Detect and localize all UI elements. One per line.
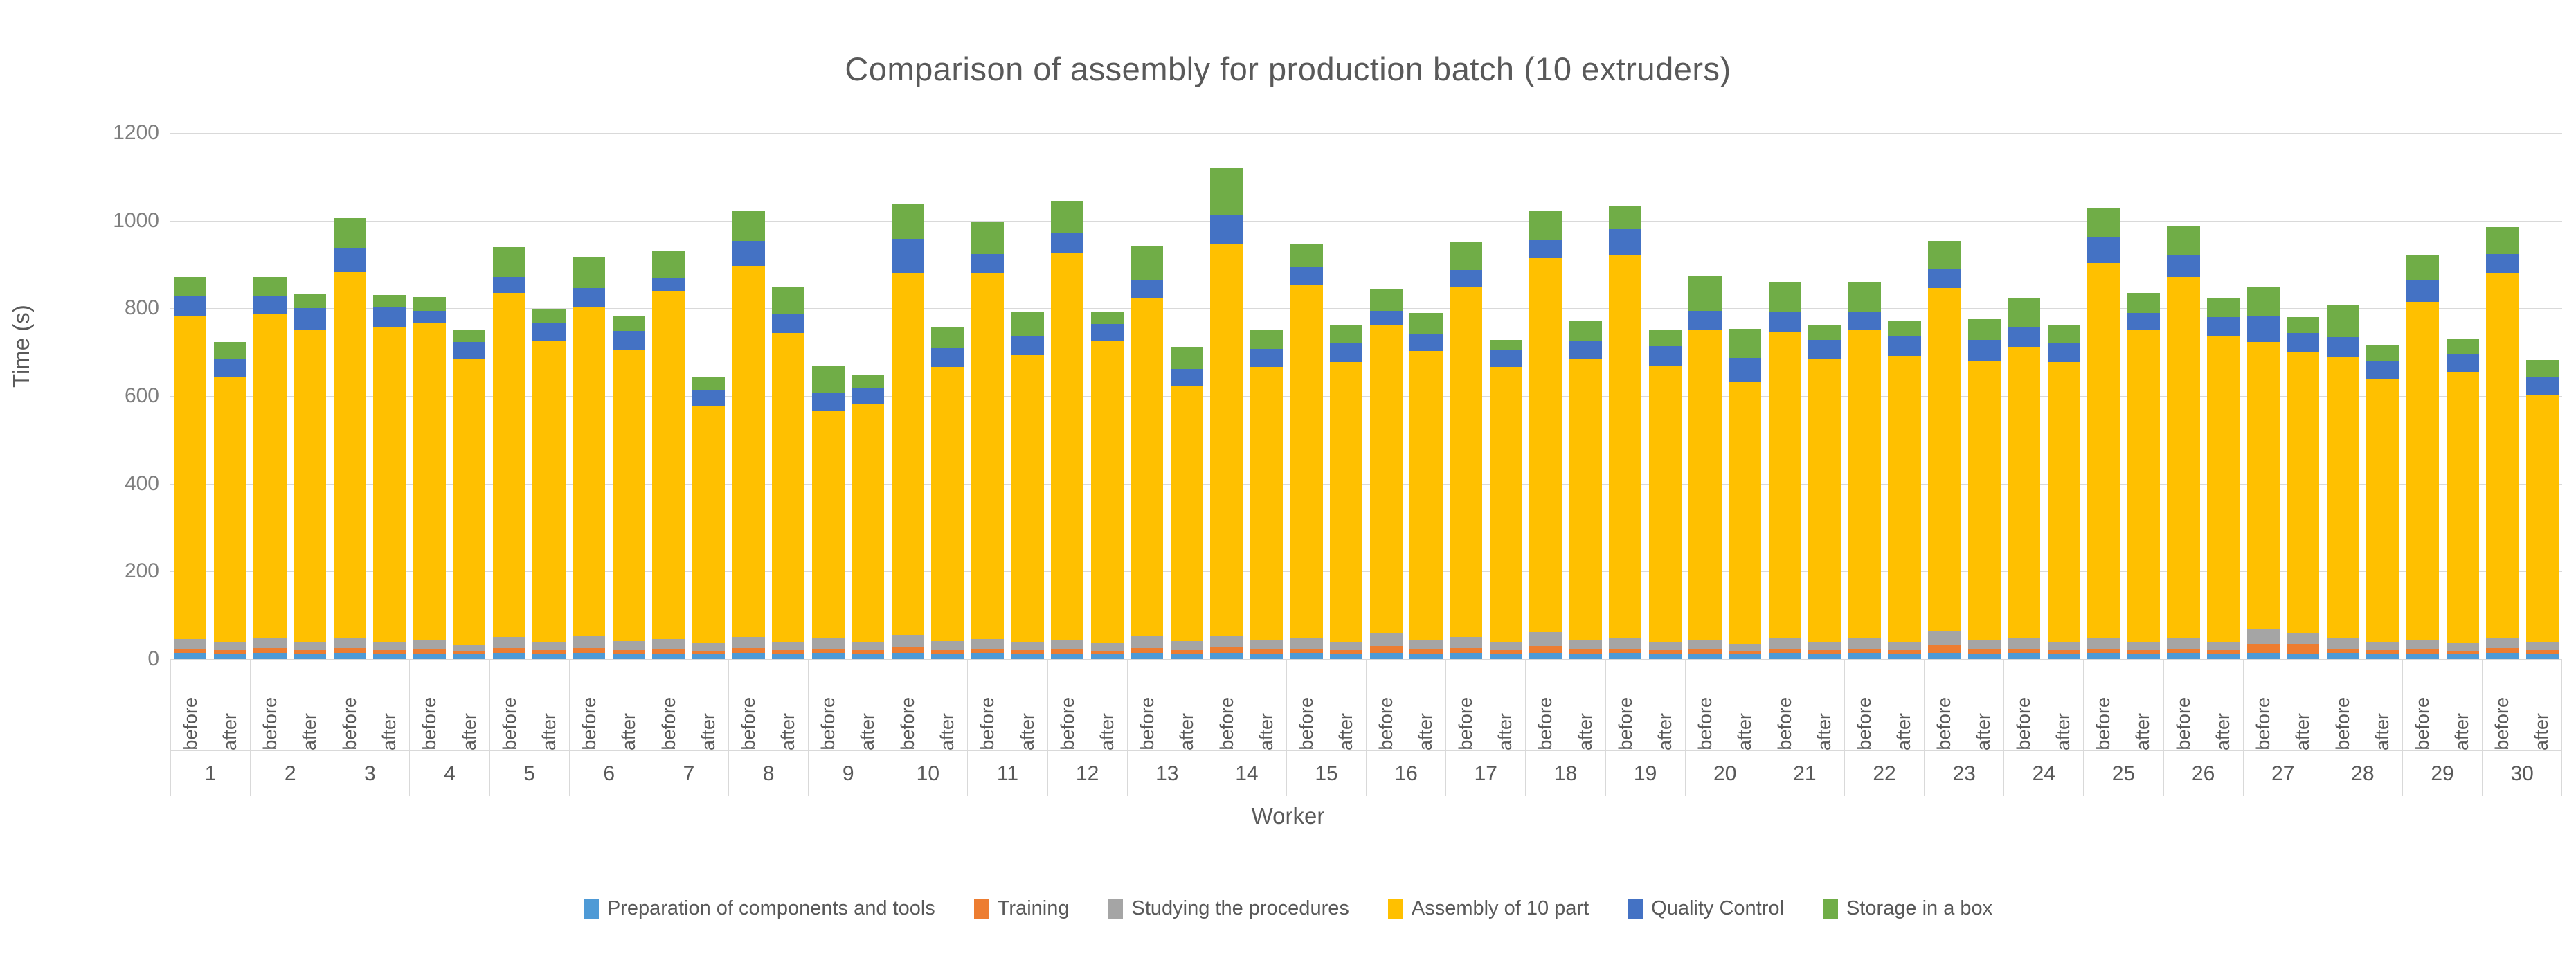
bar-segment[interactable]: [2447, 354, 2479, 373]
bar-segment[interactable]: [1769, 312, 1801, 332]
bar-segment[interactable]: [2247, 316, 2280, 342]
bar-segment[interactable]: [294, 294, 326, 309]
bar-segment[interactable]: [493, 648, 525, 653]
bar-segment[interactable]: [413, 311, 446, 323]
bar-segment[interactable]: [2087, 208, 2120, 237]
bar-segment[interactable]: [1370, 311, 1403, 325]
bar-segment[interactable]: [2366, 361, 2399, 379]
bar-segment[interactable]: [453, 654, 485, 659]
bar-segment[interactable]: [1370, 653, 1403, 659]
bar-segment[interactable]: [1808, 325, 1841, 340]
bar-segment[interactable]: [334, 638, 366, 648]
bar-segment[interactable]: [931, 654, 964, 659]
bar-segment[interactable]: [2327, 653, 2359, 659]
bar-before[interactable]: [573, 257, 605, 659]
bar-before[interactable]: [1051, 201, 1083, 659]
bar-segment[interactable]: [812, 411, 845, 639]
bar-after[interactable]: [2366, 345, 2399, 659]
bar-segment[interactable]: [1330, 343, 1362, 362]
bar-before[interactable]: [253, 277, 286, 659]
bar-segment[interactable]: [931, 348, 964, 367]
bar-segment[interactable]: [1609, 206, 1641, 229]
bar-segment[interactable]: [1250, 349, 1283, 366]
bar-segment[interactable]: [971, 653, 1004, 659]
bar-segment[interactable]: [493, 637, 525, 648]
bar-segment[interactable]: [573, 653, 605, 659]
bar-segment[interactable]: [453, 330, 485, 341]
bar-segment[interactable]: [1051, 233, 1083, 253]
bar-segment[interactable]: [1609, 638, 1641, 649]
bar-segment[interactable]: [2327, 638, 2359, 649]
bar-segment[interactable]: [1569, 359, 1602, 640]
bar-segment[interactable]: [2486, 254, 2519, 273]
bar-segment[interactable]: [1848, 282, 1881, 312]
bar-segment[interactable]: [1569, 649, 1602, 654]
bar-segment[interactable]: [2486, 653, 2519, 659]
bar-segment[interactable]: [1051, 640, 1083, 649]
bar-segment[interactable]: [2287, 644, 2319, 654]
bar-segment[interactable]: [1968, 319, 2001, 340]
bar-segment[interactable]: [1649, 654, 1682, 659]
bar-segment[interactable]: [1131, 280, 1163, 298]
bar-segment[interactable]: [1569, 341, 1602, 358]
bar-before[interactable]: [971, 222, 1004, 659]
bar-segment[interactable]: [2447, 643, 2479, 651]
bar-segment[interactable]: [214, 342, 246, 359]
bar-segment[interactable]: [1569, 654, 1602, 659]
bar-segment[interactable]: [692, 643, 725, 651]
bar-segment[interactable]: [2167, 226, 2199, 255]
bar-segment[interactable]: [1928, 631, 1961, 645]
bar-segment[interactable]: [493, 293, 525, 638]
bar-before[interactable]: [1450, 242, 1482, 659]
bar-segment[interactable]: [1450, 287, 1482, 637]
bar-segment[interactable]: [1968, 361, 2001, 639]
bar-segment[interactable]: [1729, 382, 1761, 643]
bar-segment[interactable]: [1888, 654, 1920, 659]
bar-segment[interactable]: [931, 367, 964, 641]
bar-segment[interactable]: [2087, 237, 2120, 263]
bar-segment[interactable]: [1250, 640, 1283, 649]
bar-segment[interactable]: [1051, 654, 1083, 659]
bar-segment[interactable]: [2167, 653, 2199, 659]
bar-segment[interactable]: [2008, 298, 2040, 327]
bar-segment[interactable]: [892, 204, 924, 239]
bar-segment[interactable]: [1529, 258, 1562, 632]
bar-before[interactable]: [892, 204, 924, 659]
bar-segment[interactable]: [2048, 362, 2080, 642]
bar-segment[interactable]: [1210, 244, 1243, 636]
bar-segment[interactable]: [1330, 642, 1362, 650]
bar-segment[interactable]: [2207, 642, 2240, 650]
bar-segment[interactable]: [613, 641, 645, 650]
bar-after[interactable]: [931, 327, 964, 659]
bar-segment[interactable]: [573, 257, 605, 287]
bar-segment[interactable]: [1171, 386, 1203, 641]
bar-segment[interactable]: [1529, 211, 1562, 240]
bar-before[interactable]: [1210, 168, 1243, 659]
bar-segment[interactable]: [732, 266, 764, 637]
bar-after[interactable]: [772, 287, 804, 659]
bar-before[interactable]: [2167, 226, 2199, 659]
bar-segment[interactable]: [334, 218, 366, 248]
bar-segment[interactable]: [1370, 646, 1403, 653]
bar-before[interactable]: [1370, 289, 1403, 659]
bar-segment[interactable]: [2327, 337, 2359, 357]
bar-after[interactable]: [1330, 325, 1362, 659]
bar-segment[interactable]: [1450, 648, 1482, 653]
bar-segment[interactable]: [1569, 321, 1602, 341]
bar-segment[interactable]: [2008, 327, 2040, 347]
bar-segment[interactable]: [1210, 653, 1243, 659]
bar-before[interactable]: [1131, 246, 1163, 659]
bar-segment[interactable]: [1091, 324, 1124, 341]
bar-segment[interactable]: [1210, 168, 1243, 215]
bar-segment[interactable]: [1091, 341, 1124, 643]
bar-segment[interactable]: [1529, 646, 1562, 653]
bar-segment[interactable]: [1968, 649, 2001, 654]
bar-segment[interactable]: [214, 642, 246, 650]
bar-segment[interactable]: [1370, 325, 1403, 633]
bar-segment[interactable]: [1848, 638, 1881, 649]
bar-segment[interactable]: [573, 288, 605, 307]
bar-segment[interactable]: [1290, 267, 1323, 286]
bar-segment[interactable]: [373, 327, 406, 642]
bar-segment[interactable]: [1569, 640, 1602, 649]
bar-segment[interactable]: [852, 654, 884, 659]
bar-after[interactable]: [613, 315, 645, 659]
bar-before[interactable]: [2247, 287, 2280, 659]
bar-after[interactable]: [1171, 347, 1203, 659]
bar-after[interactable]: [2127, 293, 2160, 659]
bar-before[interactable]: [1609, 206, 1641, 659]
bar-segment[interactable]: [493, 653, 525, 659]
bar-segment[interactable]: [174, 653, 206, 659]
bar-segment[interactable]: [652, 639, 685, 649]
bar-segment[interactable]: [1250, 330, 1283, 349]
bar-segment[interactable]: [2447, 654, 2479, 659]
bar-segment[interactable]: [2087, 638, 2120, 649]
bar-before[interactable]: [334, 218, 366, 659]
bar-segment[interactable]: [214, 654, 246, 659]
bar-segment[interactable]: [1450, 653, 1482, 659]
bar-segment[interactable]: [732, 211, 764, 241]
bar-segment[interactable]: [493, 277, 525, 293]
bar-segment[interactable]: [1011, 312, 1043, 335]
bar-segment[interactable]: [852, 642, 884, 650]
bar-segment[interactable]: [453, 645, 485, 651]
bar-segment[interactable]: [1409, 313, 1442, 334]
bar-after[interactable]: [1490, 340, 1522, 659]
bar-segment[interactable]: [971, 254, 1004, 273]
bar-segment[interactable]: [772, 642, 804, 650]
bar-segment[interactable]: [772, 333, 804, 642]
bar-segment[interactable]: [532, 642, 565, 650]
bar-segment[interactable]: [852, 404, 884, 642]
bar-segment[interactable]: [1131, 636, 1163, 647]
bar-segment[interactable]: [1091, 654, 1124, 659]
bar-segment[interactable]: [812, 393, 845, 411]
bar-segment[interactable]: [532, 654, 565, 659]
bar-segment[interactable]: [1609, 653, 1641, 659]
bar-after[interactable]: [373, 295, 406, 659]
bar-segment[interactable]: [1330, 325, 1362, 343]
bar-segment[interactable]: [1330, 654, 1362, 659]
bar-segment[interactable]: [214, 359, 246, 378]
bar-segment[interactable]: [732, 648, 764, 653]
bar-segment[interactable]: [1051, 253, 1083, 640]
bar-segment[interactable]: [334, 653, 366, 659]
bar-before[interactable]: [2087, 208, 2120, 659]
bar-segment[interactable]: [1490, 642, 1522, 650]
bar-segment[interactable]: [2287, 352, 2319, 633]
bar-segment[interactable]: [1609, 229, 1641, 255]
bar-segment[interactable]: [253, 653, 286, 659]
bar-segment[interactable]: [2127, 330, 2160, 642]
bar-segment[interactable]: [253, 314, 286, 638]
bar-segment[interactable]: [613, 350, 645, 641]
bar-segment[interactable]: [2486, 227, 2519, 254]
bar-segment[interactable]: [2287, 317, 2319, 333]
bar-after[interactable]: [2207, 298, 2240, 659]
bar-segment[interactable]: [2167, 638, 2199, 649]
bar-segment[interactable]: [1011, 654, 1043, 659]
bar-segment[interactable]: [1011, 642, 1043, 650]
bar-segment[interactable]: [174, 277, 206, 296]
bar-after[interactable]: [1091, 312, 1124, 659]
bar-before[interactable]: [1928, 241, 1961, 659]
bar-segment[interactable]: [2366, 642, 2399, 650]
bar-segment[interactable]: [373, 654, 406, 659]
bar-segment[interactable]: [1848, 330, 1881, 638]
bar-segment[interactable]: [692, 406, 725, 642]
bar-before[interactable]: [812, 366, 845, 659]
bar-segment[interactable]: [652, 654, 685, 659]
bar-segment[interactable]: [2008, 638, 2040, 649]
bar-after[interactable]: [692, 377, 725, 659]
bar-segment[interactable]: [1769, 653, 1801, 659]
bar-segment[interactable]: [413, 654, 446, 659]
bar-segment[interactable]: [1529, 653, 1562, 659]
bar-segment[interactable]: [2087, 263, 2120, 638]
bar-segment[interactable]: [174, 296, 206, 316]
bar-segment[interactable]: [1688, 640, 1721, 649]
bar-segment[interactable]: [2207, 654, 2240, 659]
bar-segment[interactable]: [1888, 321, 1920, 336]
bar-before[interactable]: [2486, 227, 2519, 659]
legend-item[interactable]: Studying the procedures: [1108, 897, 1349, 920]
bar-segment[interactable]: [1928, 645, 1961, 653]
bar-segment[interactable]: [1928, 288, 1961, 631]
bar-after[interactable]: [1569, 321, 1602, 659]
bar-segment[interactable]: [812, 366, 845, 393]
bar-segment[interactable]: [2447, 339, 2479, 354]
bar-segment[interactable]: [2287, 633, 2319, 644]
bar-segment[interactable]: [1649, 642, 1682, 650]
bar-segment[interactable]: [931, 641, 964, 650]
bar-segment[interactable]: [1968, 654, 2001, 659]
bar-segment[interactable]: [373, 307, 406, 327]
bar-after[interactable]: [2048, 325, 2080, 659]
bar-segment[interactable]: [2327, 305, 2359, 337]
bar-after[interactable]: [1888, 321, 1920, 659]
legend-item[interactable]: Preparation of components and tools: [584, 897, 935, 920]
bar-before[interactable]: [1688, 276, 1721, 659]
bar-segment[interactable]: [413, 640, 446, 649]
bar-segment[interactable]: [772, 287, 804, 314]
bar-after[interactable]: [1968, 319, 2001, 659]
bar-segment[interactable]: [772, 314, 804, 333]
bar-segment[interactable]: [2526, 377, 2559, 395]
bar-segment[interactable]: [892, 635, 924, 647]
bar-segment[interactable]: [2127, 313, 2160, 330]
bar-segment[interactable]: [2207, 317, 2240, 336]
bar-segment[interactable]: [2207, 336, 2240, 642]
bar-segment[interactable]: [2406, 654, 2439, 659]
bar-segment[interactable]: [2127, 293, 2160, 313]
bar-segment[interactable]: [294, 654, 326, 659]
bar-segment[interactable]: [2287, 333, 2319, 352]
bar-segment[interactable]: [1409, 649, 1442, 654]
bar-segment[interactable]: [732, 653, 764, 659]
bar-segment[interactable]: [1888, 356, 1920, 642]
bar-segment[interactable]: [413, 323, 446, 641]
bar-after[interactable]: [2447, 339, 2479, 659]
bar-segment[interactable]: [2366, 379, 2399, 642]
bar-segment[interactable]: [1688, 330, 1721, 640]
bar-segment[interactable]: [1649, 366, 1682, 642]
bar-segment[interactable]: [1131, 298, 1163, 636]
bar-segment[interactable]: [971, 222, 1004, 254]
bar-segment[interactable]: [2526, 654, 2559, 659]
bar-segment[interactable]: [2287, 654, 2319, 659]
bar-segment[interactable]: [1529, 240, 1562, 259]
bar-segment[interactable]: [573, 307, 605, 636]
bar-segment[interactable]: [1330, 362, 1362, 642]
bar-segment[interactable]: [1131, 246, 1163, 280]
bar-after[interactable]: [1729, 329, 1761, 659]
bar-segment[interactable]: [1928, 241, 1961, 269]
bar-segment[interactable]: [573, 636, 605, 647]
bar-segment[interactable]: [1649, 330, 1682, 346]
bar-segment[interactable]: [573, 648, 605, 654]
bar-segment[interactable]: [1091, 643, 1124, 651]
bar-segment[interactable]: [1529, 632, 1562, 646]
bar-after[interactable]: [214, 341, 246, 659]
bar-segment[interactable]: [2048, 654, 2080, 659]
bar-segment[interactable]: [1290, 653, 1323, 659]
bar-segment[interactable]: [1171, 347, 1203, 369]
bar-segment[interactable]: [453, 359, 485, 645]
bar-segment[interactable]: [2048, 642, 2080, 650]
bar-segment[interactable]: [2167, 255, 2199, 276]
bar-segment[interactable]: [931, 327, 964, 348]
bar-segment[interactable]: [1928, 269, 1961, 288]
bar-segment[interactable]: [852, 375, 884, 388]
bar-before[interactable]: [2327, 305, 2359, 659]
bar-segment[interactable]: [692, 654, 725, 659]
bar-after[interactable]: [2526, 360, 2559, 659]
bar-segment[interactable]: [2167, 277, 2199, 638]
bar-segment[interactable]: [334, 272, 366, 638]
bar-segment[interactable]: [1848, 312, 1881, 329]
bar-segment[interactable]: [613, 654, 645, 659]
legend-item[interactable]: Quality Control: [1628, 897, 1784, 920]
bar-segment[interactable]: [373, 295, 406, 307]
bar-after[interactable]: [294, 294, 326, 659]
bar-segment[interactable]: [1968, 640, 2001, 649]
bar-segment[interactable]: [532, 341, 565, 641]
bar-segment[interactable]: [2247, 629, 2280, 644]
bar-segment[interactable]: [732, 241, 764, 265]
bar-segment[interactable]: [1649, 346, 1682, 366]
bar-segment[interactable]: [1769, 638, 1801, 649]
bar-before[interactable]: [1290, 244, 1323, 659]
bar-segment[interactable]: [1729, 644, 1761, 651]
bar-segment[interactable]: [1409, 640, 1442, 649]
bar-segment[interactable]: [294, 642, 326, 650]
bar-segment[interactable]: [2127, 654, 2160, 659]
bar-before[interactable]: [1769, 282, 1801, 659]
bar-segment[interactable]: [253, 638, 286, 648]
bar-segment[interactable]: [1609, 255, 1641, 638]
bar-segment[interactable]: [1171, 369, 1203, 386]
bar-segment[interactable]: [1729, 329, 1761, 358]
bar-segment[interactable]: [892, 239, 924, 274]
bar-segment[interactable]: [1210, 647, 1243, 653]
bar-before[interactable]: [174, 277, 206, 659]
bar-segment[interactable]: [1210, 636, 1243, 647]
bar-segment[interactable]: [1370, 289, 1403, 311]
bar-segment[interactable]: [1409, 334, 1442, 351]
bar-segment[interactable]: [1370, 633, 1403, 646]
bar-segment[interactable]: [2048, 325, 2080, 343]
bar-segment[interactable]: [1171, 641, 1203, 650]
bar-segment[interactable]: [1848, 653, 1881, 659]
bar-segment[interactable]: [453, 342, 485, 359]
bar-segment[interactable]: [413, 297, 446, 311]
bar-segment[interactable]: [294, 330, 326, 642]
legend-item[interactable]: Storage in a box: [1823, 897, 1992, 920]
bar-after[interactable]: [1250, 330, 1283, 659]
bar-segment[interactable]: [971, 273, 1004, 639]
bar-segment[interactable]: [692, 390, 725, 406]
bar-before[interactable]: [413, 297, 446, 659]
bar-segment[interactable]: [1808, 654, 1841, 659]
bar-after[interactable]: [2287, 317, 2319, 659]
bar-segment[interactable]: [1250, 367, 1283, 641]
bar-segment[interactable]: [1490, 350, 1522, 367]
bar-before[interactable]: [2406, 254, 2439, 659]
bar-segment[interactable]: [1729, 654, 1761, 659]
bar-segment[interactable]: [2526, 360, 2559, 377]
bar-segment[interactable]: [2526, 395, 2559, 642]
bar-segment[interactable]: [2366, 654, 2399, 659]
bar-segment[interactable]: [1450, 270, 1482, 287]
legend-item[interactable]: Training: [974, 897, 1070, 920]
bar-after[interactable]: [453, 330, 485, 659]
bar-after[interactable]: [1011, 312, 1043, 659]
bar-before[interactable]: [732, 211, 764, 659]
bar-segment[interactable]: [2526, 642, 2559, 650]
bar-segment[interactable]: [1490, 340, 1522, 350]
bar-segment[interactable]: [732, 637, 764, 648]
bar-segment[interactable]: [1051, 201, 1083, 233]
bar-segment[interactable]: [2008, 347, 2040, 638]
bar-after[interactable]: [1808, 325, 1841, 659]
bar-segment[interactable]: [1290, 638, 1323, 649]
bar-segment[interactable]: [253, 277, 286, 296]
